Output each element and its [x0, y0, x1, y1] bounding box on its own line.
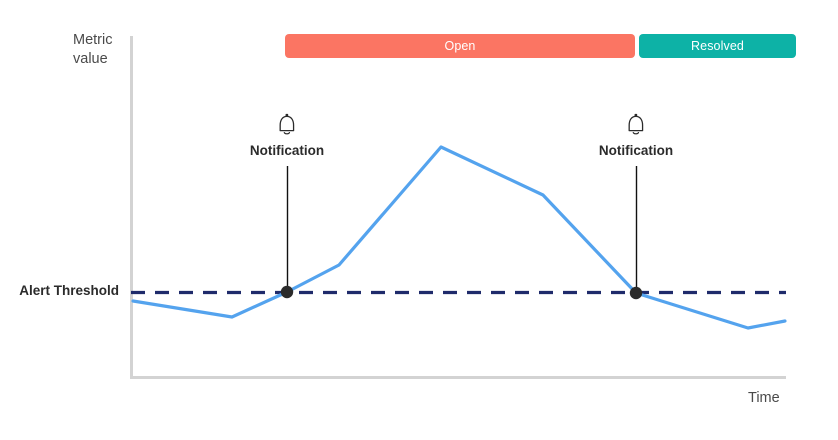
threshold-crossing-dot-1: [281, 286, 293, 298]
notification-marker-1-label: Notification: [250, 143, 324, 158]
threshold-crossing-dots: [281, 286, 642, 299]
status-bar-resolved-label: Resolved: [691, 39, 744, 53]
status-bar-open[interactable]: Open: [285, 34, 635, 58]
threshold-crossing-dot-2: [630, 287, 642, 299]
chart-container: Metric value Time Alert Threshold Open R…: [0, 0, 838, 440]
bell-icon: [276, 113, 298, 137]
plot-area: [0, 0, 838, 440]
alert-threshold-label: Alert Threshold: [19, 283, 119, 298]
y-axis-label: Metric value: [73, 31, 112, 69]
x-axis-label: Time: [748, 389, 780, 408]
notification-marker-2[interactable]: Notification: [599, 113, 673, 158]
bell-icon: [625, 113, 647, 137]
status-bar-open-label: Open: [445, 39, 476, 53]
notification-marker-1[interactable]: Notification: [250, 113, 324, 158]
metric-line: [133, 147, 785, 328]
notification-marker-2-label: Notification: [599, 143, 673, 158]
status-bar-resolved[interactable]: Resolved: [639, 34, 796, 58]
